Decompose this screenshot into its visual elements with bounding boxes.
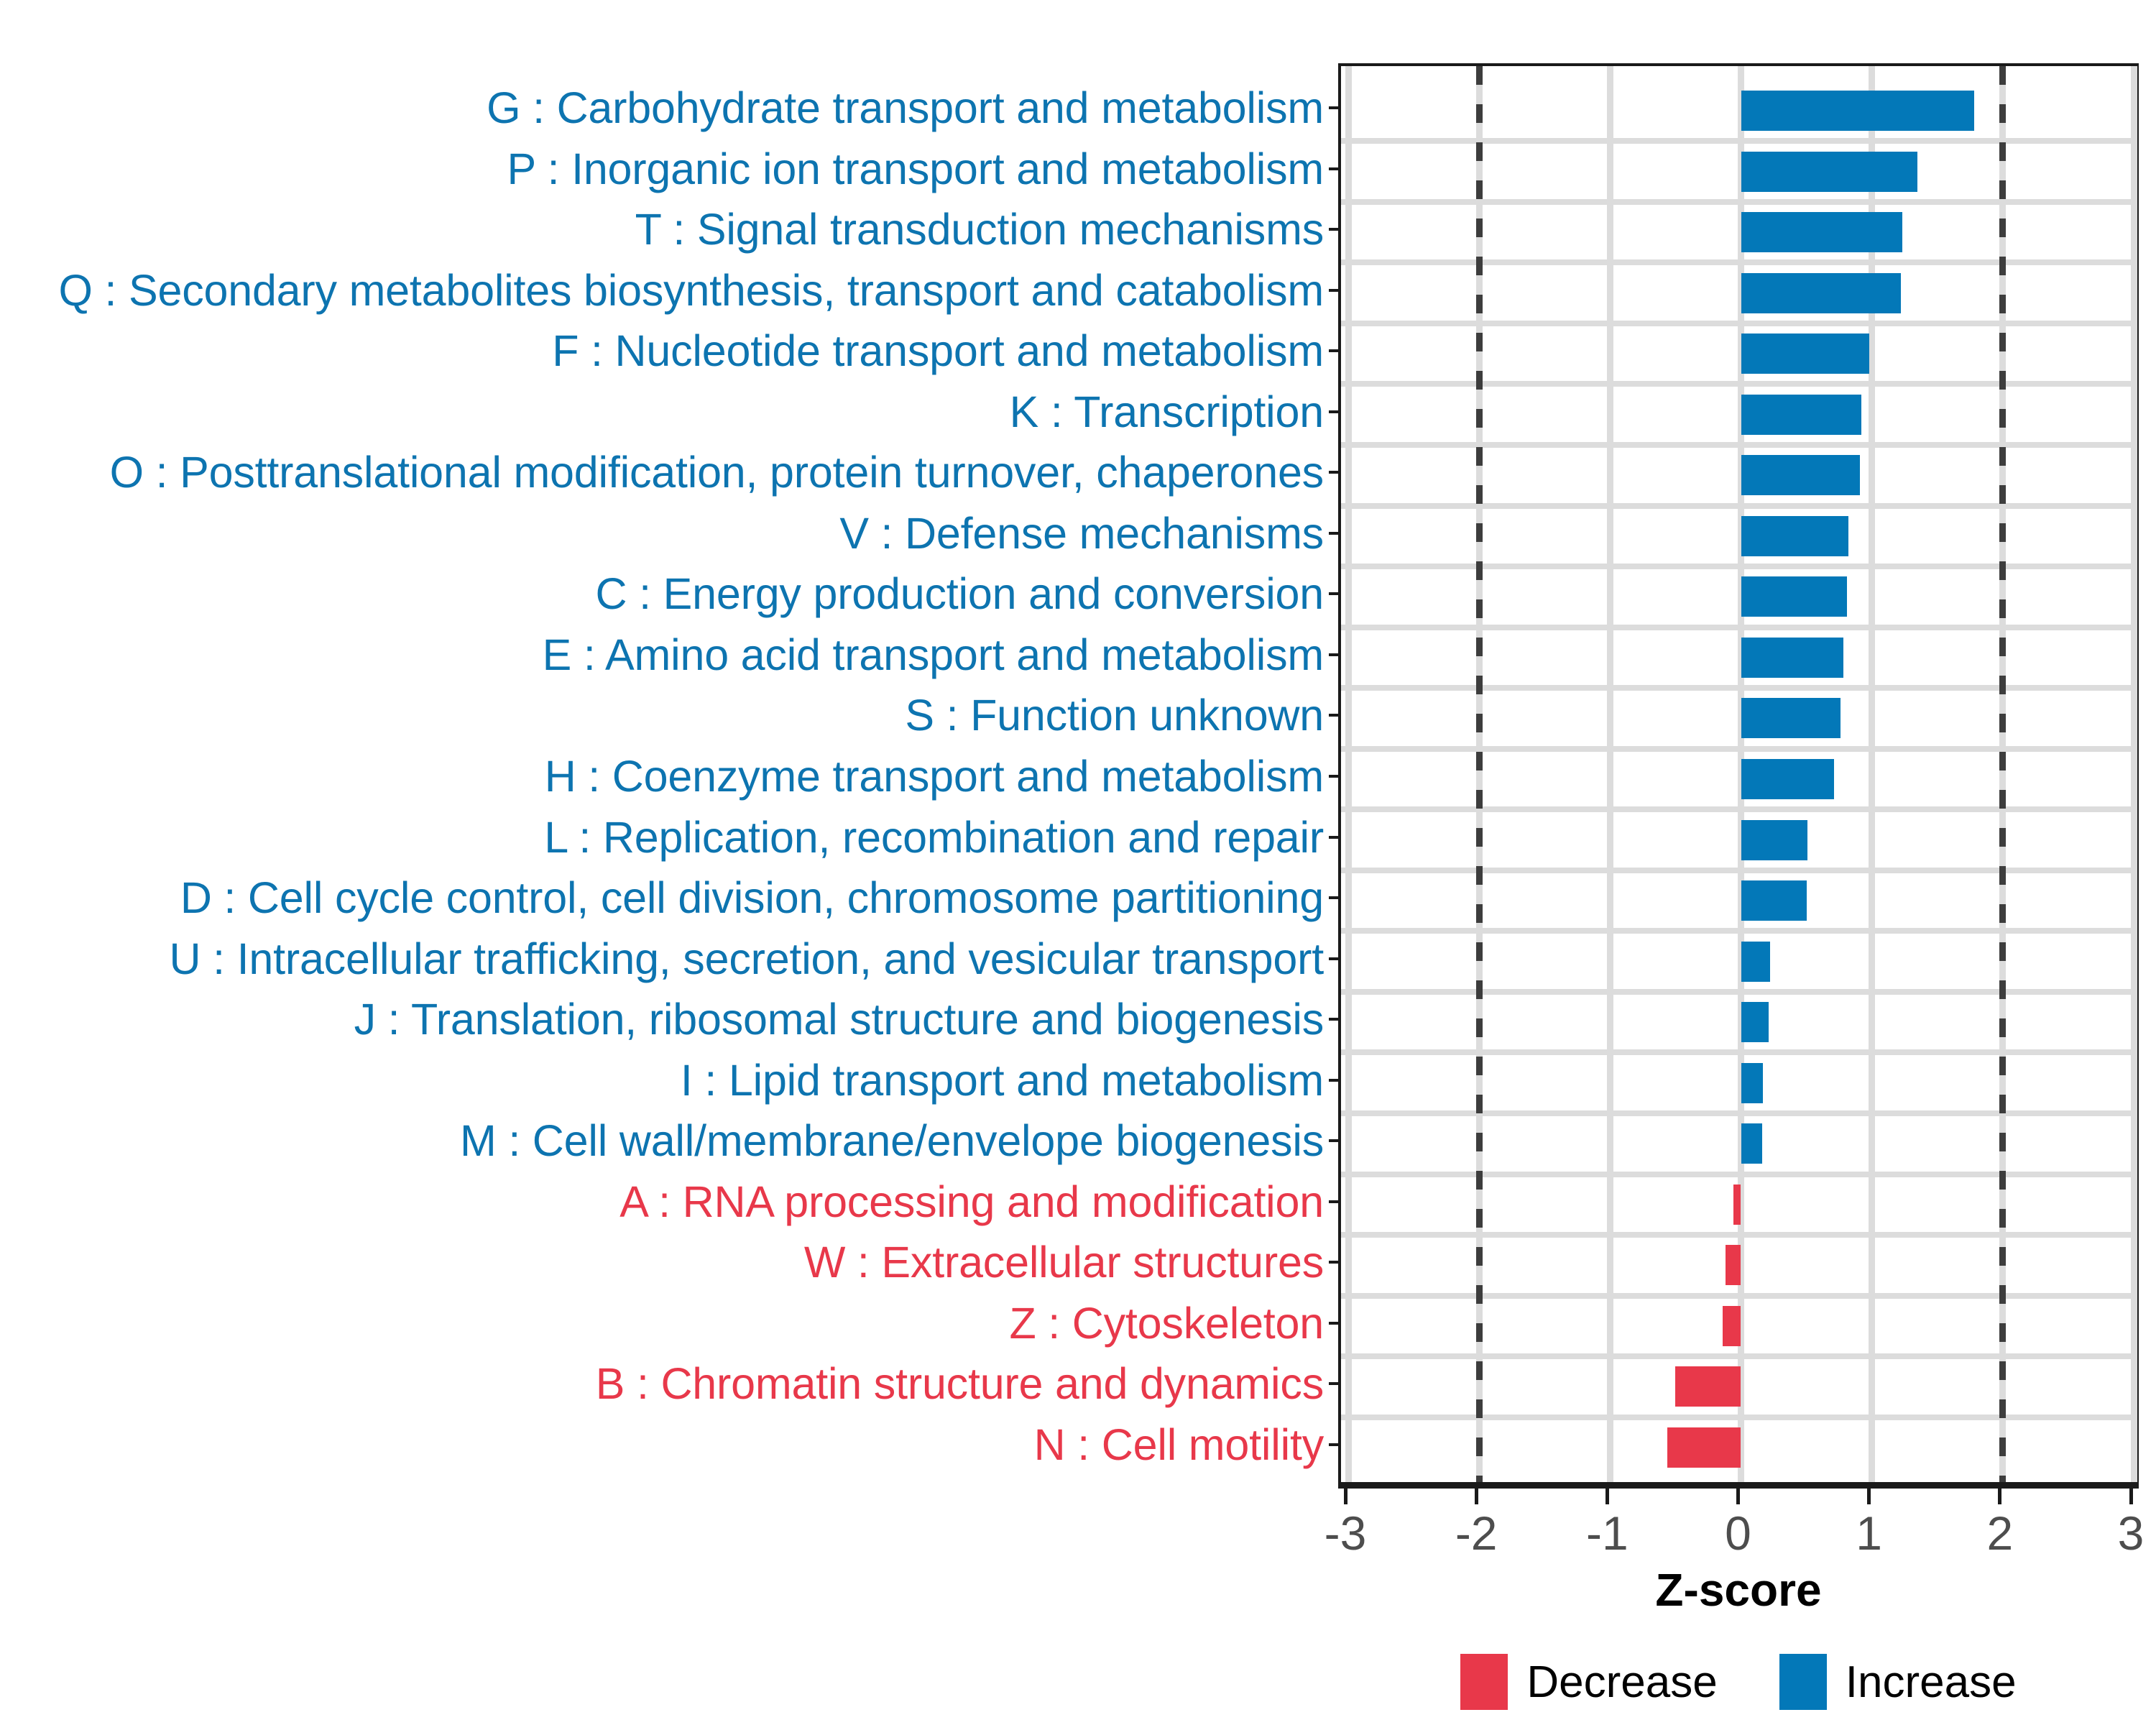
x-axis-title: Z-score	[1338, 1563, 2139, 1616]
bar-m	[1741, 1123, 1762, 1164]
y-axis-tick	[1329, 349, 1338, 352]
horizontal-gridline	[1341, 1049, 2136, 1055]
vertical-gridline	[1607, 66, 1613, 1482]
category-label-j: J : Translation, ribosomal structure and…	[354, 994, 1324, 1044]
bar-u	[1741, 942, 1770, 982]
x-axis-tick	[2129, 1489, 2133, 1504]
horizontal-gridline	[1341, 989, 2136, 995]
x-axis-tick	[1867, 1489, 1871, 1504]
horizontal-gridline	[1341, 442, 2136, 448]
category-label-h: H : Coenzyme transport and metabolism	[545, 751, 1324, 801]
bar-p	[1741, 152, 1918, 192]
y-axis-tick	[1329, 775, 1338, 778]
horizontal-gridline	[1341, 321, 2136, 326]
legend-label-increase: Increase	[1846, 1657, 2017, 1708]
legend-entry-decrease[interactable]: Decrease	[1460, 1654, 1717, 1710]
y-axis-tick	[1329, 1443, 1338, 1446]
bar-s	[1741, 698, 1841, 738]
horizontal-gridline	[1341, 685, 2136, 691]
horizontal-gridline	[1341, 1172, 2136, 1177]
category-label-o: O : Posttranslational modification, prot…	[110, 447, 1324, 497]
y-axis-tick	[1329, 592, 1338, 595]
category-label-column: G : Carbohydrate transport and metabolis…	[0, 0, 1331, 1509]
horizontal-gridline	[1341, 746, 2136, 752]
category-label-v: V : Defense mechanisms	[839, 508, 1324, 558]
horizontal-gridline	[1341, 928, 2136, 934]
bar-a	[1733, 1184, 1741, 1225]
y-axis-tick	[1329, 167, 1338, 170]
y-axis-tick	[1329, 714, 1338, 717]
plot-panel	[1338, 63, 2139, 1485]
category-label-l: L : Replication, recombination and repai…	[544, 812, 1324, 862]
bar-v	[1741, 516, 1848, 556]
bar-g	[1741, 91, 1974, 131]
y-axis-tick	[1329, 1139, 1338, 1142]
x-axis-tick-label: -2	[1426, 1506, 1526, 1560]
bar-h	[1741, 759, 1834, 799]
horizontal-gridline	[1341, 625, 2136, 630]
y-axis-tick	[1329, 1018, 1338, 1021]
category-label-d: D : Cell cycle control, cell division, c…	[180, 873, 1324, 923]
vertical-gridline	[2131, 66, 2137, 1482]
bar-q	[1741, 273, 1901, 313]
category-label-e: E : Amino acid transport and metabolism	[543, 630, 1324, 680]
bar-z	[1723, 1306, 1741, 1346]
x-axis-tick-label: -1	[1557, 1506, 1657, 1560]
legend-swatch-decrease	[1460, 1654, 1508, 1710]
category-label-p: P : Inorganic ion transport and metaboli…	[507, 144, 1324, 194]
bar-i	[1741, 1063, 1764, 1103]
y-axis-tick	[1329, 653, 1338, 656]
bar-j	[1741, 1002, 1769, 1042]
y-axis-tick	[1329, 410, 1338, 413]
category-label-s: S : Function unknown	[905, 690, 1324, 740]
bar-w	[1726, 1245, 1741, 1285]
y-axis-tick	[1329, 836, 1338, 839]
legend-label-decrease: Decrease	[1526, 1657, 1717, 1708]
category-label-g: G : Carbohydrate transport and metabolis…	[487, 83, 1324, 133]
horizontal-gridline	[1341, 1110, 2136, 1116]
x-axis-tick-label: 0	[1688, 1506, 1789, 1560]
x-axis-tick	[1606, 1489, 1609, 1504]
y-axis-tick	[1329, 1322, 1338, 1325]
y-axis-tick	[1329, 896, 1338, 899]
horizontal-gridline	[1341, 1232, 2136, 1238]
category-label-m: M : Cell wall/membrane/envelope biogenes…	[460, 1115, 1324, 1166]
horizontal-gridline	[1341, 259, 2136, 265]
y-axis-tick	[1329, 1382, 1338, 1385]
bar-l	[1741, 820, 1808, 860]
y-axis-tick	[1329, 1200, 1338, 1203]
horizontal-gridline	[1341, 503, 2136, 509]
x-axis-tick-label: 3	[2081, 1506, 2156, 1560]
y-axis-tick	[1329, 228, 1338, 231]
reference-line-minus2	[1476, 66, 1483, 1482]
horizontal-gridline	[1341, 381, 2136, 387]
horizontal-gridline	[1341, 563, 2136, 569]
category-label-t: T : Signal transduction mechanisms	[635, 204, 1324, 254]
bar-o	[1741, 455, 1861, 495]
category-label-u: U : Intracellular trafficking, secretion…	[170, 934, 1324, 984]
horizontal-gridline	[1341, 1353, 2136, 1359]
bar-k	[1741, 395, 1862, 435]
reference-line-plus2	[1999, 66, 2006, 1482]
bar-c	[1741, 576, 1848, 617]
category-label-n: N : Cell motility	[1034, 1420, 1324, 1470]
x-axis-tick	[1475, 1489, 1478, 1504]
y-axis-tick	[1329, 289, 1338, 292]
legend-swatch-increase	[1779, 1654, 1827, 1710]
x-axis-tick	[1998, 1489, 2001, 1504]
y-axis-tick	[1329, 471, 1338, 474]
plot-panel-inner	[1341, 66, 2136, 1482]
bar-d	[1741, 880, 1807, 921]
horizontal-gridline	[1341, 199, 2136, 205]
category-label-f: F : Nucleotide transport and metabolism	[552, 326, 1324, 376]
x-axis-tick	[1736, 1489, 1740, 1504]
category-label-a: A : RNA processing and modification	[619, 1177, 1324, 1227]
horizontal-gridline	[1341, 1293, 2136, 1299]
x-axis-tick-label: -3	[1295, 1506, 1396, 1560]
category-label-c: C : Energy production and conversion	[596, 569, 1324, 619]
horizontal-gridline	[1341, 806, 2136, 812]
y-axis-tick	[1329, 1261, 1338, 1264]
cog-zscore-bar-chart: G : Carbohydrate transport and metabolis…	[0, 0, 2156, 1725]
vertical-gridline	[1345, 66, 1352, 1482]
x-axis-tick-label: 2	[1950, 1506, 2050, 1560]
category-label-z: Z : Cytoskeleton	[1009, 1298, 1324, 1348]
category-label-b: B : Chromatin structure and dynamics	[596, 1358, 1324, 1409]
x-axis-tick-label: 1	[1819, 1506, 1920, 1560]
bar-f	[1741, 333, 1870, 374]
bar-b	[1675, 1366, 1741, 1407]
category-label-q: Q : Secondary metabolites biosynthesis, …	[59, 265, 1325, 316]
bar-e	[1741, 638, 1843, 678]
legend-entry-increase[interactable]: Increase	[1779, 1654, 2017, 1710]
category-label-i: I : Lipid transport and metabolism	[681, 1055, 1324, 1105]
category-label-w: W : Extracellular structures	[804, 1237, 1324, 1287]
category-label-k: K : Transcription	[1010, 387, 1324, 437]
bar-n	[1667, 1427, 1741, 1468]
y-axis-tick	[1329, 957, 1338, 960]
horizontal-gridline	[1341, 868, 2136, 873]
horizontal-gridline	[1341, 138, 2136, 144]
x-axis-tick	[1344, 1489, 1347, 1504]
y-axis-tick	[1329, 106, 1338, 109]
y-axis-tick	[1329, 1079, 1338, 1082]
chart-legend: DecreaseIncrease	[1338, 1646, 2139, 1718]
bar-t	[1741, 212, 1902, 252]
horizontal-gridline	[1341, 1414, 2136, 1420]
y-axis-tick	[1329, 532, 1338, 535]
